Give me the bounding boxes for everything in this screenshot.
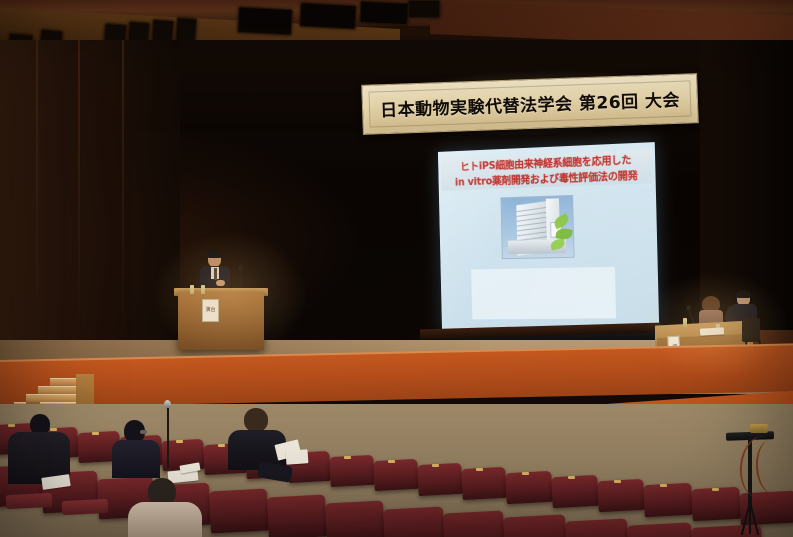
stage-curtain-left — [0, 40, 180, 350]
water-bottle — [683, 318, 687, 327]
stage-light-icon — [299, 3, 356, 30]
seat-number-plate — [476, 468, 483, 471]
attendee-figure — [128, 478, 200, 537]
panelist-hair — [736, 290, 751, 298]
auditorium-seat — [597, 479, 645, 512]
conference-hall-photo: 日本動物実験代替法学会 第26回 大会 ヒトiPS細胞由来神経系細胞を応用した … — [0, 0, 793, 537]
auditorium-seat — [417, 463, 463, 496]
projection-screen: ヒトiPS細胞由来神経系細胞を応用した in vitro薬剤開発および毒性評価法… — [438, 142, 659, 333]
attendee-torso — [112, 440, 160, 478]
attendee-torso — [128, 502, 202, 537]
document-sheet — [700, 327, 724, 335]
auditorium-seat — [565, 518, 629, 537]
presenter-necktie — [214, 268, 217, 280]
podium-placard: 演台 — [202, 299, 219, 322]
seat-number-plate — [176, 440, 183, 443]
seat-number-plate — [432, 464, 439, 467]
auditorium-seat — [505, 471, 553, 504]
banner-inner-border: 日本動物実験代替法学会 第26回 大会 — [368, 80, 692, 128]
seat-number-plate — [614, 480, 621, 483]
water-bottle — [190, 285, 194, 294]
seat-number-plate — [218, 444, 225, 447]
attendee-papers — [286, 449, 309, 465]
attendee-head — [244, 408, 268, 432]
podium — [178, 292, 264, 350]
panel-chair — [742, 318, 760, 342]
auditorium-seat — [643, 483, 693, 517]
auditorium-seat — [325, 501, 385, 537]
presenter-hair — [207, 250, 222, 258]
seat-cushion — [62, 499, 109, 515]
seat-number-plate — [712, 488, 719, 491]
seat-number-plate — [388, 460, 395, 463]
curtain-fold — [122, 40, 124, 340]
banner-title-text: 日本動物実験代替法学会 第26回 大会 — [380, 86, 681, 121]
aisle-microphone-stand — [167, 408, 169, 468]
stage-light-icon — [408, 0, 440, 18]
tripod-leg — [749, 502, 751, 534]
auditorium-seat — [383, 506, 445, 537]
seat-number-plate — [92, 432, 99, 435]
panel-mic-head — [686, 305, 691, 310]
auditorium-seat — [503, 514, 567, 537]
podium-mic-head — [238, 265, 243, 270]
seat-number-plate — [344, 456, 351, 459]
water-bottle — [201, 285, 205, 294]
seat-cushion — [6, 493, 53, 509]
seat-number-plate — [568, 476, 575, 479]
slide-blank-content-area — [471, 267, 616, 320]
auditorium-seat — [627, 522, 693, 537]
curtain-fold — [36, 40, 38, 340]
auditorium-seat — [443, 510, 505, 537]
seat-number-plate — [660, 484, 667, 487]
attendee-figure — [8, 414, 68, 484]
stage-light-icon — [237, 7, 292, 36]
attendee-glasses-icon — [140, 430, 147, 434]
stage-light-icon — [359, 1, 408, 25]
auditorium-seat — [209, 489, 269, 534]
podium-placard-text: 演台 — [205, 308, 215, 313]
attendee-figure — [112, 420, 158, 476]
presenter-hand — [216, 280, 225, 286]
auditorium-seat — [267, 495, 327, 537]
slide-building-photo — [500, 195, 574, 259]
auditorium-seat — [329, 455, 375, 487]
auditorium-seat — [551, 475, 599, 508]
auditorium-seat — [461, 467, 507, 500]
seat-number-plate — [522, 472, 529, 475]
equipment-box-icon — [750, 424, 768, 433]
curtain-fold — [78, 40, 80, 340]
auditorium-seat — [373, 459, 419, 491]
